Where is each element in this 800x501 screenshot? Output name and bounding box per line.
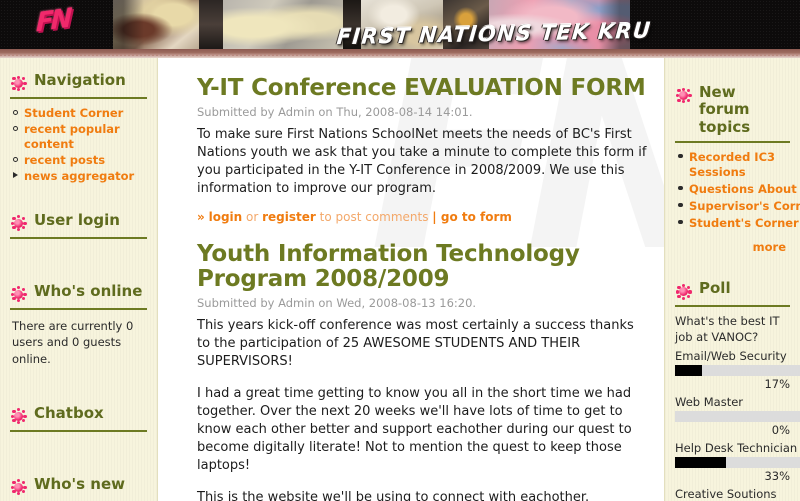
sunburst-icon [10, 75, 27, 92]
article-submitted-meta: Submitted by Admin on Thu, 2008-08-14 14… [197, 105, 648, 119]
block-whos-online: Who's online There are currently 0 users… [0, 269, 157, 369]
site-banner: FN FIRST NATIONS TEK KRU [0, 0, 800, 49]
sunburst-icon [10, 479, 27, 496]
block-whos-new: Who's new Brendan Pierre Brandy Joe [0, 462, 157, 501]
sunburst-icon [10, 286, 27, 303]
left-sidebar: Navigation Student Corner recent popular… [0, 58, 158, 501]
article-paragraph: To make sure First Nations SchoolNet mee… [197, 126, 648, 199]
sidebar-item-recent-posts[interactable]: recent posts [24, 153, 147, 168]
right-sidebar: New forum topics Recorded IC3 Sessions Q… [664, 58, 800, 501]
separator: | [432, 210, 441, 224]
register-link[interactable]: register [262, 210, 316, 224]
block-new-forum-topics: New forum topics Recorded IC3 Sessions Q… [665, 70, 800, 254]
or-text: or [242, 210, 262, 224]
more-link[interactable]: more [753, 240, 786, 254]
chevron-right-icon [13, 172, 18, 178]
article-title[interactable]: Y-IT Conference EVALUATION FORM [197, 58, 648, 102]
article-paragraph: This is the website we'll be using to co… [197, 489, 648, 501]
graffiti-tag-icon[interactable]: FN [36, 3, 70, 38]
poll-bar [675, 411, 800, 422]
sunburst-icon [10, 408, 27, 425]
list-item[interactable]: Questions About IC3 [689, 182, 790, 197]
block-title: Poll [699, 280, 731, 297]
online-count-text: There are currently 0 users and 0 guests… [10, 317, 147, 369]
forum-topic-link[interactable]: Questions About IC3 [689, 182, 800, 196]
block-chatbox: Chatbox [0, 391, 157, 432]
poll-row: Web Master 0% [675, 395, 790, 437]
poll-percent: 17% [675, 377, 790, 391]
list-item[interactable]: Student's Corner [689, 216, 790, 231]
article-title[interactable]: Youth Information Technology Program 200… [197, 224, 648, 294]
article-submitted-meta: Submitted by Admin on Wed, 2008-08-13 16… [197, 296, 648, 310]
poll-bar-fill [675, 365, 702, 376]
forum-topic-link[interactable]: Student's Corner [689, 216, 799, 230]
poll-option-label: Help Desk Technician [675, 441, 790, 455]
article-paragraph: I had a great time getting to know you a… [197, 385, 648, 476]
divider [10, 430, 147, 432]
sunburst-icon [675, 283, 692, 300]
post-comments-text: to post comments [316, 210, 432, 224]
list-item[interactable]: Supervisor's Corner [689, 199, 790, 214]
nav-link[interactable]: Student Corner [24, 106, 123, 120]
forum-topic-link[interactable]: Recorded IC3 Sessions [689, 150, 775, 179]
poll-row: Help Desk Technician 33% [675, 441, 790, 483]
block-navigation: Navigation Student Corner recent popular… [0, 58, 157, 184]
poll-percent: 33% [675, 469, 790, 483]
poll-option-label: Web Master [675, 395, 790, 409]
nav-link[interactable]: recent posts [24, 153, 105, 167]
block-title: Navigation [34, 72, 126, 89]
login-link[interactable]: login [209, 210, 243, 224]
divider [10, 97, 147, 99]
article-links: » login or register to post comments | g… [197, 210, 648, 224]
main-content: FN Y-IT Conference EVALUATION FORM Submi… [159, 58, 664, 501]
nav-link[interactable]: recent popular content [24, 122, 120, 151]
poll-question: What's the best IT job at VANOC? [675, 314, 790, 345]
poll-option-label: Email/Web Security [675, 349, 790, 363]
block-poll: Poll What's the best IT job at VANOC? Em… [665, 266, 800, 501]
block-title: New forum topics [699, 84, 790, 136]
article-paragraph: This years kick-off conference was most … [197, 317, 648, 372]
block-title: Chatbox [34, 405, 104, 422]
poll-bar-fill [675, 457, 726, 468]
forum-topic-list: Recorded IC3 Sessions Questions About IC… [675, 150, 790, 231]
poll-percent: 0% [675, 423, 790, 437]
poll-bar [675, 457, 800, 468]
divider [675, 305, 790, 307]
divider [10, 237, 147, 239]
more-link-wrap: more [675, 232, 790, 254]
poll-row: Email/Web Security 17% [675, 349, 790, 391]
list-item[interactable]: Recorded IC3 Sessions [689, 150, 790, 180]
sunburst-icon [675, 87, 692, 104]
sidebar-item-recent-popular-content[interactable]: recent popular content [24, 122, 147, 152]
navigation-menu: Student Corner recent popular content re… [10, 106, 147, 184]
block-user-login: User login [0, 198, 157, 239]
chevron-icon: » [197, 210, 205, 224]
go-to-form-link[interactable]: go to form [441, 210, 512, 224]
forum-topic-link[interactable]: Supervisor's Corner [689, 199, 800, 213]
poll-row: Creative Soutions 17% [675, 487, 790, 501]
divider [675, 141, 790, 143]
nav-link[interactable]: news aggregator [24, 169, 134, 183]
block-title: Who's online [34, 283, 142, 300]
sunburst-icon [10, 215, 27, 232]
block-title: Who's new [34, 476, 125, 493]
poll-bar [675, 365, 800, 376]
divider [10, 308, 147, 310]
article: Y-IT Conference EVALUATION FORM Submitte… [159, 58, 664, 224]
article: Youth Information Technology Program 200… [159, 224, 664, 501]
block-title: User login [34, 212, 120, 229]
poll-option-label: Creative Soutions [675, 487, 790, 501]
banner-divider [0, 49, 800, 58]
sidebar-item-student-corner[interactable]: Student Corner [24, 106, 147, 121]
sidebar-item-news-aggregator[interactable]: news aggregator [24, 169, 147, 184]
